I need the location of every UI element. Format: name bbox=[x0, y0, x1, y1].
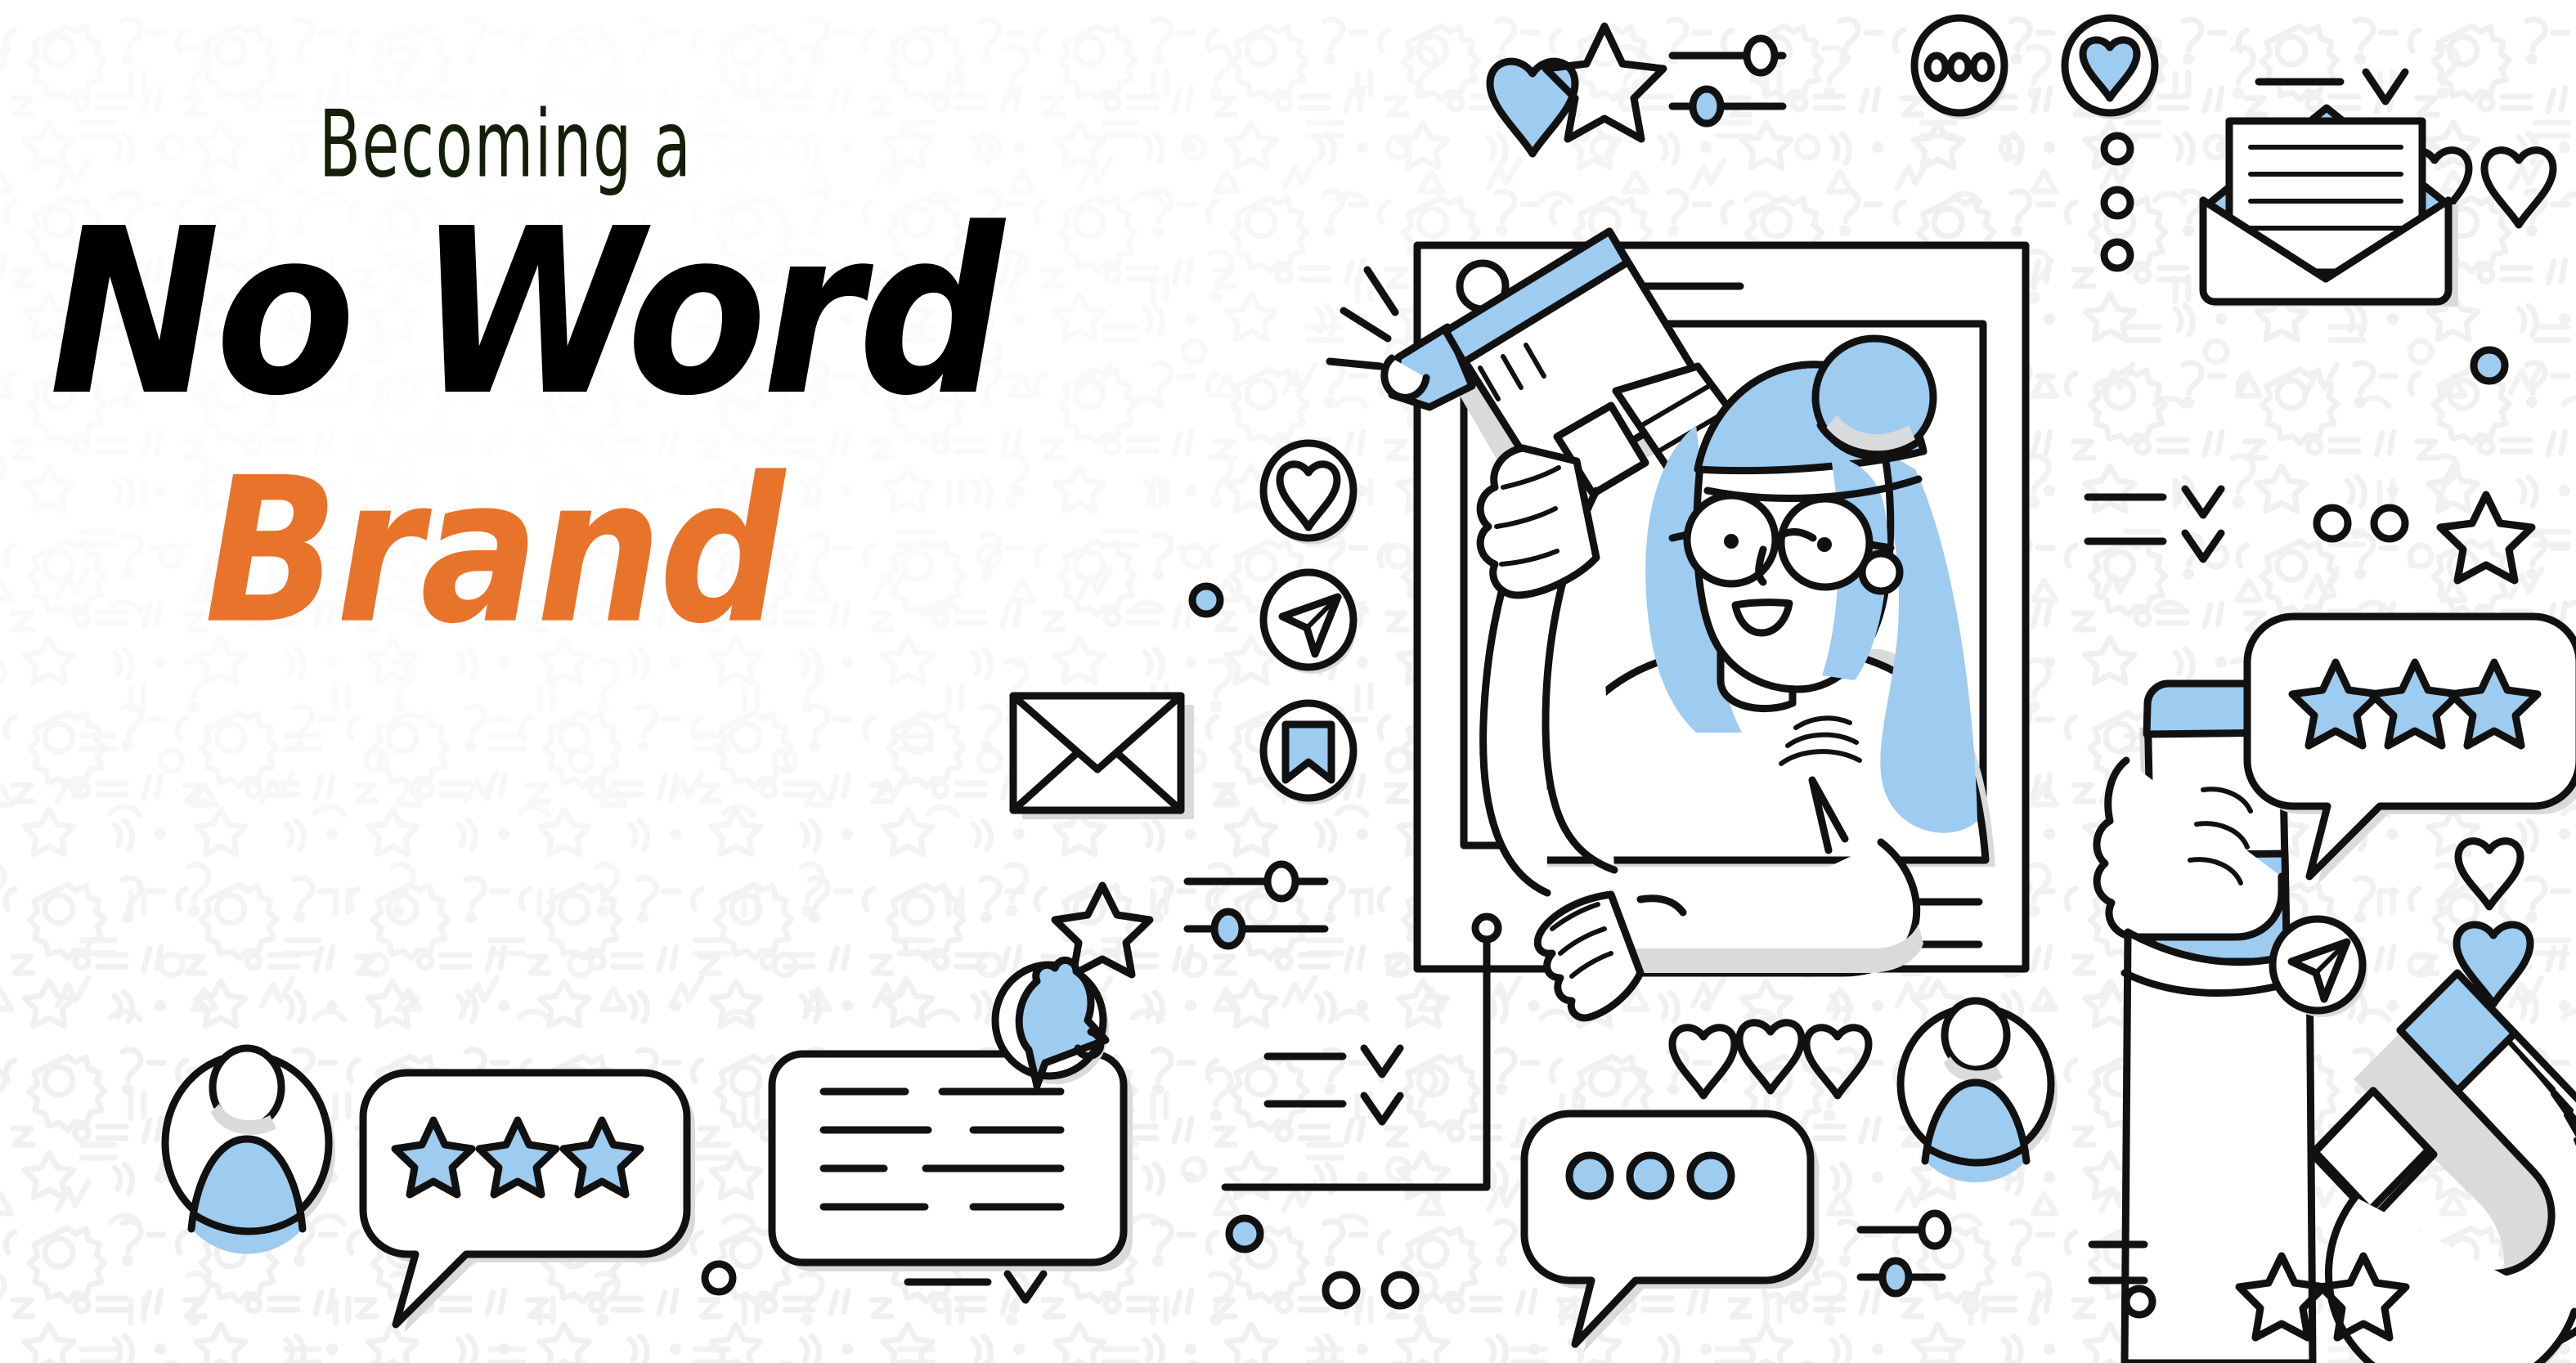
slider-control-bottom-right[interactable] bbox=[1860, 1213, 1948, 1246]
envelope-open-icon bbox=[2203, 108, 2458, 307]
rating-bubble-icon-right bbox=[2247, 616, 2576, 885]
divider-line-chevron-top bbox=[2259, 72, 2405, 101]
slider-control-blue[interactable] bbox=[1672, 89, 1783, 123]
slider-control-mid-blue[interactable] bbox=[1187, 912, 1325, 946]
heart-icon-outline-b bbox=[2484, 150, 2553, 225]
circle-pair-icon-bottom bbox=[1326, 1275, 1416, 1306]
dot-icon-outline-bl bbox=[705, 1264, 733, 1292]
like-icon[interactable] bbox=[1263, 443, 1357, 545]
message-card bbox=[772, 1054, 1133, 1271]
bookmark-icon[interactable] bbox=[1263, 703, 1357, 805]
send-icon-right[interactable] bbox=[2273, 919, 2367, 1017]
magnet-icon bbox=[2313, 973, 2576, 1363]
star-icon-outline bbox=[1546, 26, 1663, 139]
heart-icon-blue-filled bbox=[1490, 61, 1575, 154]
envelope-icon bbox=[1013, 696, 1194, 819]
divider-chevron-pair-left bbox=[1268, 1048, 1400, 1122]
heart-row-icons bbox=[1672, 1023, 1869, 1096]
divider-chevron-pair-right bbox=[2088, 489, 2221, 559]
dot-icon-blue-left bbox=[1192, 586, 1220, 614]
title-block: Becoming a No Word Brand bbox=[57, 98, 1079, 623]
typing-bubble-icon bbox=[1524, 1114, 1819, 1352]
title-line-1: No Word bbox=[49, 208, 1079, 419]
poster-canvas: .ln{fill:none;stroke:#111;stroke-width:9… bbox=[0, 0, 2576, 1363]
divider-chevron-bottom-left bbox=[908, 1274, 1043, 1300]
send-icon[interactable] bbox=[1263, 572, 1357, 674]
slider-control[interactable] bbox=[1672, 38, 1783, 73]
rating-bubble-icon bbox=[363, 1073, 695, 1333]
dot-icon-outline-right-bottom bbox=[2126, 1289, 2152, 1315]
title-line-2: Brand bbox=[204, 456, 1079, 647]
dot-icon-blue-tr bbox=[2474, 350, 2505, 381]
slider-control-mid[interactable] bbox=[1187, 864, 1325, 899]
title-eyebrow: Becoming a bbox=[319, 98, 973, 191]
circle-pair-icon-right bbox=[2317, 508, 2405, 539]
avatar-icon bbox=[165, 1048, 335, 1254]
dot-icon-blue-bl bbox=[1229, 1218, 1260, 1249]
avatar-icon-right bbox=[1901, 1001, 2058, 1182]
heart-icon-outline-right-mid bbox=[2458, 841, 2520, 907]
star-icon-outline-right bbox=[2440, 495, 2532, 581]
heart-badge-icon[interactable] bbox=[2065, 18, 2158, 119]
slider-control-bottom-right-b[interactable] bbox=[1860, 1261, 1942, 1294]
more-options-icon[interactable] bbox=[1914, 18, 2008, 119]
dot-stack-icon bbox=[2104, 136, 2130, 268]
